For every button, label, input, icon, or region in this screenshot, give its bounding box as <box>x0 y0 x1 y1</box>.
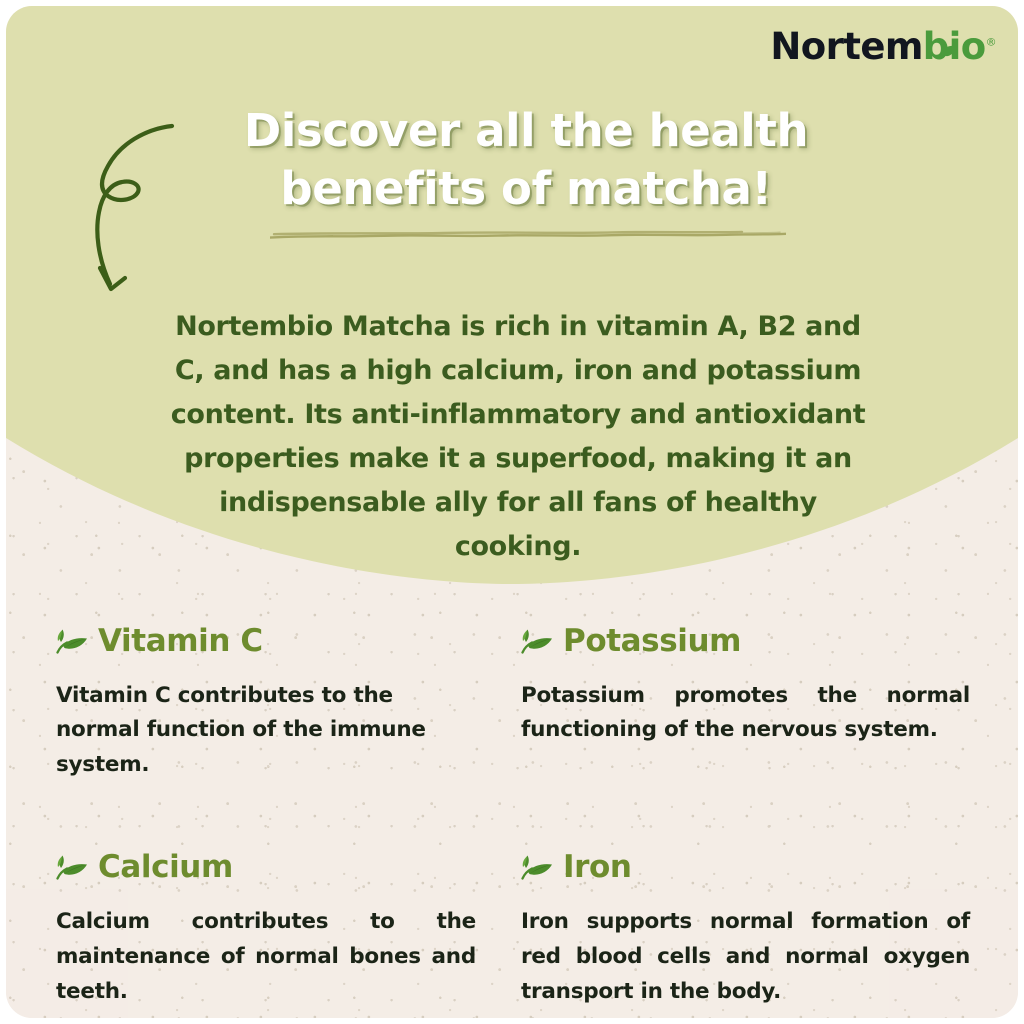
headline-line-2: benefits of matcha! <box>196 160 856 218</box>
logo-text-primary: Nortem <box>770 25 922 68</box>
page-title: Discover all the health benefits of matc… <box>196 102 856 217</box>
sprout-leaf-icon <box>56 854 90 881</box>
benefit-header: Calcium <box>56 852 476 883</box>
sprout-leaf-icon <box>521 628 555 655</box>
benefit-header: Iron <box>521 852 970 883</box>
benefit-description: Calcium contributes to the maintenance o… <box>56 905 476 1009</box>
brand-logo: Nortembio® <box>770 28 996 65</box>
infographic-poster: Nortembio® Discover all the health benef… <box>0 0 1024 1024</box>
benefit-description: Vitamin C contributes to the normal func… <box>56 679 476 783</box>
benefits-grid: Vitamin C Vitamin C contributes to the n… <box>6 626 1018 1018</box>
sprout-leaf-icon <box>56 628 90 655</box>
benefit-item-vitamin-c: Vitamin C Vitamin C contributes to the n… <box>56 626 476 804</box>
trademark-symbol: ® <box>986 36 996 49</box>
benefit-item-potassium: Potassium Potassium promotes the normal … <box>521 626 970 804</box>
benefit-description: Iron supports normal formation of red bl… <box>521 905 970 1009</box>
sprout-leaf-icon <box>521 854 555 881</box>
logo-leaf-icon <box>942 45 957 57</box>
intro-paragraph: Nortembio Matcha is rich in vitamin A, B… <box>156 305 880 569</box>
benefit-title: Iron <box>563 852 632 883</box>
benefit-item-calcium: Calcium Calcium contributes to the maint… <box>56 852 476 1018</box>
benefit-title: Potassium <box>563 626 741 657</box>
benefit-header: Vitamin C <box>56 626 476 657</box>
benefit-item-iron: Iron Iron supports normal formation of r… <box>521 852 970 1018</box>
benefit-description: Potassium promotes the normal functionin… <box>521 679 970 749</box>
benefit-title: Calcium <box>98 852 233 883</box>
poster-card: Nortembio® Discover all the health benef… <box>6 6 1018 1018</box>
headline-line-1: Discover all the health <box>244 104 808 157</box>
benefit-title: Vitamin C <box>98 626 263 657</box>
brush-stroke-divider <box>268 228 788 242</box>
benefit-header: Potassium <box>521 626 970 657</box>
